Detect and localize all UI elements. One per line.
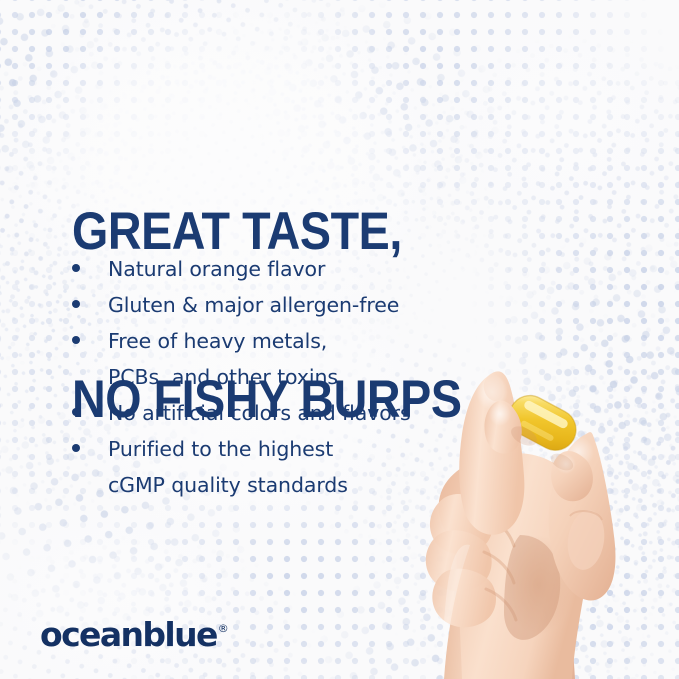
list-item-label: No artificial colors and flavors bbox=[68, 396, 468, 432]
list-item-label: Gluten & major allergen-free bbox=[68, 288, 468, 324]
brand-wordmark: oceanblue bbox=[40, 615, 217, 654]
product-benefits-graphic: GREAT TASTE, NO FISHY BURPS Natural oran… bbox=[0, 0, 679, 679]
bullet-dot-icon bbox=[72, 264, 80, 272]
bullet-dot-icon bbox=[72, 300, 80, 308]
list-item: Free of heavy metals, bbox=[68, 324, 468, 360]
registered-trademark-icon: ® bbox=[218, 622, 229, 635]
list-item-label: Natural orange flavor bbox=[68, 252, 468, 288]
list-item-label: Free of heavy metals, bbox=[68, 324, 468, 360]
benefits-list: Natural orange flavor Gluten & major all… bbox=[68, 252, 468, 504]
list-item-continuation: cGMP quality standards bbox=[68, 468, 468, 504]
list-item: Natural orange flavor bbox=[68, 252, 468, 288]
list-item: No artificial colors and flavors bbox=[68, 396, 468, 432]
list-item-label: cGMP quality standards bbox=[68, 468, 468, 504]
list-item: Purified to the highest bbox=[68, 432, 468, 468]
list-item-label: Purified to the highest bbox=[68, 432, 468, 468]
list-item-continuation: PCBs, and other toxins bbox=[68, 360, 468, 396]
bullet-dot-icon bbox=[72, 408, 80, 416]
list-item-label: PCBs, and other toxins bbox=[68, 360, 468, 396]
bullet-dot-icon bbox=[72, 444, 80, 452]
bullet-dot-icon bbox=[72, 336, 80, 344]
list-item: Gluten & major allergen-free bbox=[68, 288, 468, 324]
brand-logo: oceanblue® bbox=[40, 612, 228, 654]
